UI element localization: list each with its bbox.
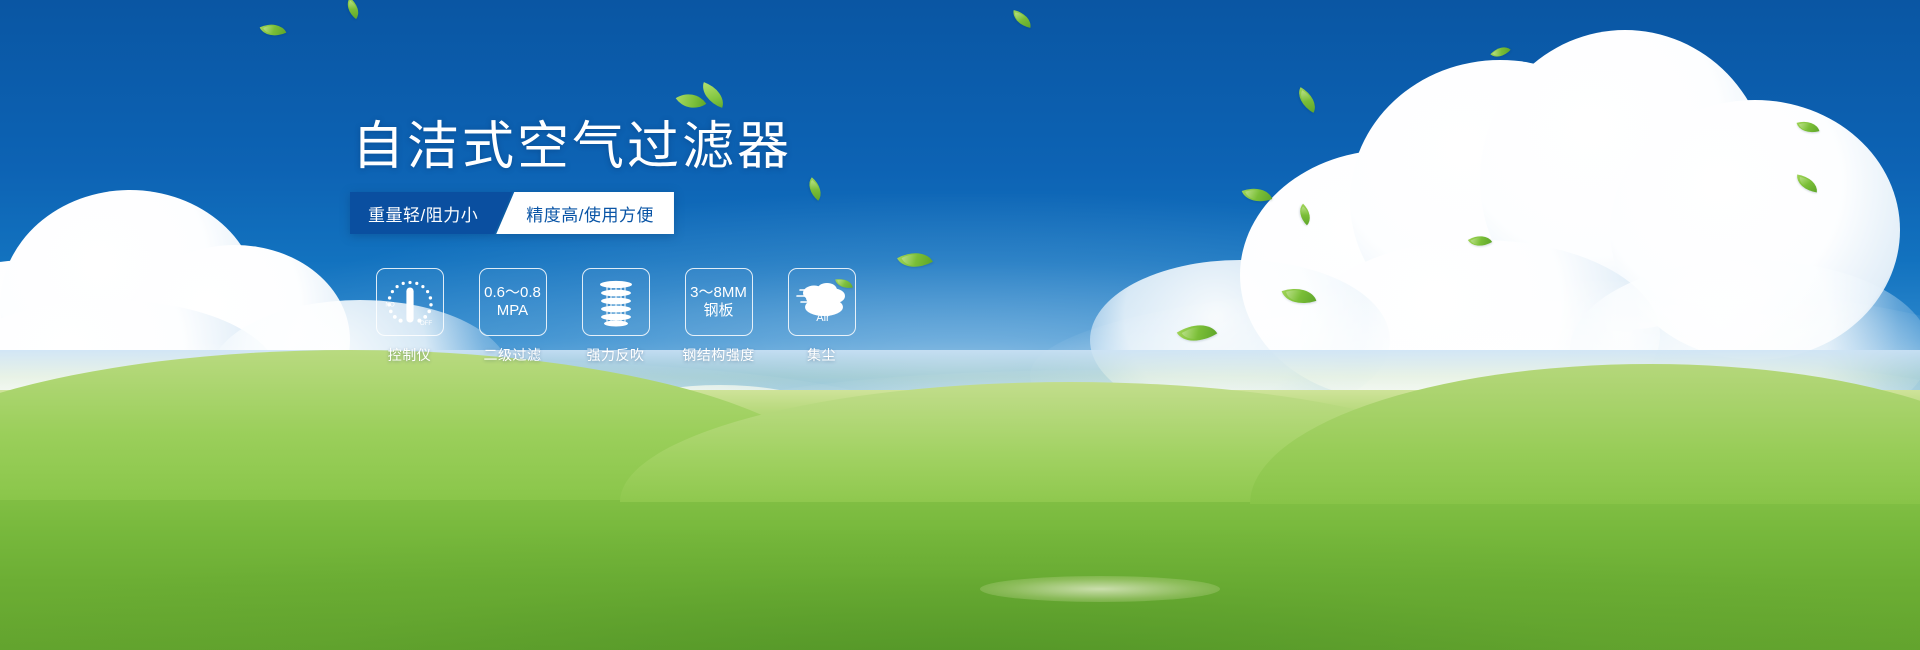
banner-content: 自洁式空气过滤器 重量轻/阻力小 精度高/使用方便 [0,0,1920,650]
feature-secondary-filtration[interactable]: 0.6～0.8 MPA 二级过滤 [461,268,564,365]
product-banner: 自洁式空气过滤器 重量轻/阻力小 精度高/使用方便 [0,0,1920,650]
feature-label: 钢结构强度 [682,345,755,365]
steel-thickness-line2: 钢板 [690,302,747,320]
steel-plate-text-icon-box: 3～8MM 钢板 [685,268,753,336]
blowback-coil-icon [592,276,640,328]
feature-steel-structure-strength[interactable]: 3～8MM 钢板 钢结构强度 [667,268,770,365]
tag-high-precision-easy-use[interactable]: 精度高/使用方便 [496,192,674,234]
control-dial-icon-box: NO OFF [376,268,444,336]
pressure-value-line2: MPA [484,302,541,320]
feature-label: 集尘 [807,345,836,365]
dust-cloud-icon-box: Air [788,268,856,336]
air-label: Air [816,312,830,324]
feature-icon-row: NO OFF 控制仪 0.6～0.8 MPA 二级过滤 [358,268,873,365]
tag-lightweight-low-resistance[interactable]: 重量轻/阻力小 [350,192,512,234]
page-title: 自洁式空气过滤器 [352,118,792,178]
dial-off-label: OFF [419,320,432,327]
steel-thickness-line1: 3～8MM [690,284,747,302]
feature-label: 二级过滤 [484,345,542,365]
title-leaf-icon [676,86,707,117]
feature-label: 强力反吹 [587,345,645,365]
blowback-coil-icon-box [582,268,650,336]
pressure-text-icon-box: 0.6～0.8 MPA [479,268,547,336]
control-dial-icon: NO OFF [381,273,439,331]
steel-plate-text-icon: 3～8MM 钢板 [690,284,747,319]
dust-cloud-icon: Air [794,277,850,327]
pressure-text-icon: 0.6～0.8 MPA [484,284,541,319]
feature-label: 控制仪 [388,345,432,365]
feature-dust-collection[interactable]: Air 集尘 [770,268,873,365]
feature-tag-bar: 重量轻/阻力小 精度高/使用方便 [350,192,674,234]
dial-no-label: NO [385,302,394,309]
pressure-value-line1: 0.6～0.8 [484,284,541,302]
feature-control-instrument[interactable]: NO OFF 控制仪 [358,268,461,365]
feature-powerful-blowback[interactable]: 强力反吹 [564,268,667,365]
